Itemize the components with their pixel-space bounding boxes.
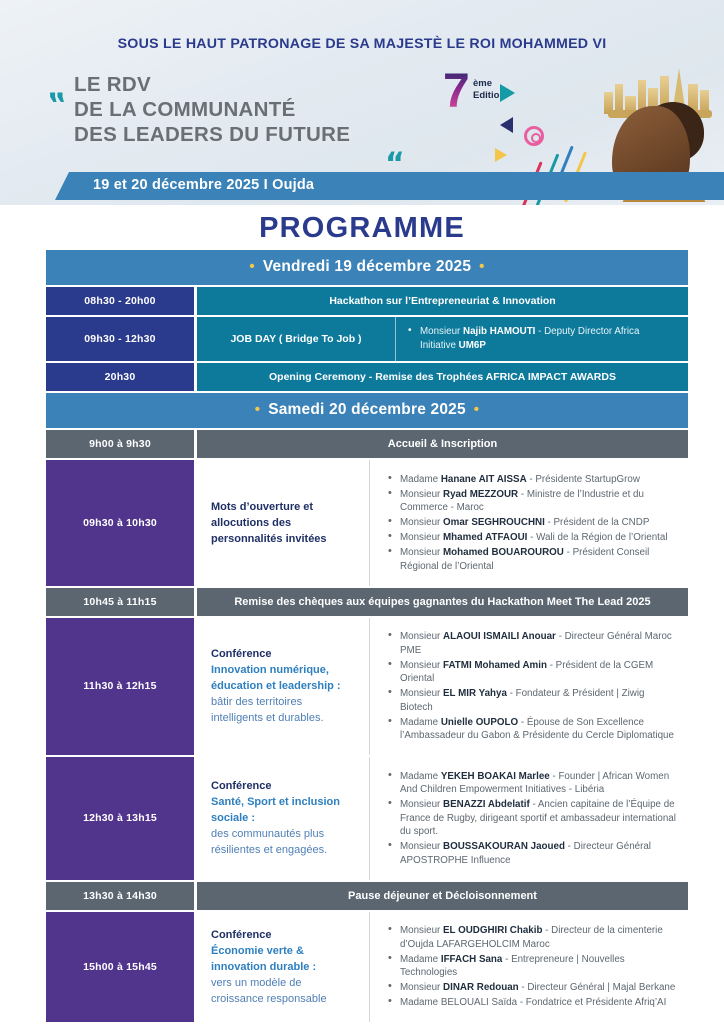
- row-time: 13h30 à 14h30: [46, 882, 194, 910]
- table-row: 09h30 à 10h30Mots d’ouverture et allocut…: [46, 460, 688, 586]
- topic-description: bâtir des territoires intelligents et du…: [211, 694, 357, 726]
- speaker-item: Madame IFFACH Sana - Entrepreneure | Nou…: [386, 953, 678, 980]
- speaker-item: Monsieur Mhamed ATFAOUI - Wali de la Rég…: [386, 531, 678, 545]
- row-time: 09h30 à 10h30: [46, 460, 194, 586]
- edition-number: 7: [443, 68, 470, 116]
- row-label: Pause déjeuner et Décloisonnement: [197, 882, 688, 910]
- speaker-item: Monsieur ALAOUI ISMAILI Anouar - Directe…: [386, 630, 678, 657]
- row-time: 15h00 à 15h45: [46, 912, 194, 1023]
- title-line-1: LE RDV: [74, 72, 350, 97]
- speaker-item: Monsieur BENAZZI Abdelatif - Ancien capi…: [386, 798, 678, 839]
- triangle-right-teal-icon: [500, 84, 515, 102]
- row-topic: ConférenceÉconomie verte & innovation du…: [197, 912, 369, 1023]
- row-time: 09h30 - 12h30: [46, 317, 194, 361]
- topic-heading: Conférence: [211, 646, 357, 662]
- row-label: Remise des chèques aux équipes gagnantes…: [197, 588, 688, 616]
- topic-subject: Économie verte & innovation durable :: [211, 943, 357, 975]
- table-row: 09h30 - 12h30JOB DAY ( Bridge To Job )Mo…: [46, 317, 688, 361]
- speaker-item: Monsieur Najib HAMOUTI - Deputy Director…: [408, 325, 678, 353]
- bullet-dot-icon: •: [471, 258, 492, 275]
- triangle-right-yellow-icon: [495, 148, 507, 162]
- table-row: 08h30 - 20h00Hackathon sur l’Entrepreneu…: [46, 287, 688, 315]
- day-header-saturday: •Samedi 20 décembre 2025•: [46, 393, 688, 428]
- speaker-item: Monsieur EL MIR Yahya - Fondateur & Prés…: [386, 687, 678, 714]
- speaker-item: Madame YEKEH BOAKAI Marlee - Founder | A…: [386, 770, 678, 797]
- bullet-dot-icon: •: [466, 401, 487, 418]
- bullet-dot-icon: •: [247, 401, 268, 418]
- row-speakers: Madame Hanane AIT AISSA - Présidente Sta…: [369, 460, 688, 586]
- speaker-item: Monsieur Omar SEGHROUCHNI - Président de…: [386, 516, 678, 530]
- speaker-item: Madame Unielle OUPOLO - Épouse de Son Ex…: [386, 716, 678, 743]
- row-time: 11h30 à 12h15: [46, 618, 194, 756]
- day-header-friday: •Vendredi 19 décembre 2025•: [46, 250, 688, 285]
- triangle-left-navy-icon: [500, 117, 513, 133]
- speaker-item: Monsieur DINAR Redouan - Directeur Génér…: [386, 981, 678, 995]
- page-title: PROGRAMME: [0, 212, 724, 245]
- topic-heading: Mots d’ouverture et allocutions des pers…: [211, 499, 357, 547]
- row-time: 9h00 à 9h30: [46, 430, 194, 458]
- row-speakers: Monsieur ALAOUI ISMAILI Anouar - Directe…: [369, 618, 688, 756]
- topic-subject: Innovation numérique, éducation et leade…: [211, 662, 357, 694]
- topic-subject: Santé, Sport et inclusion sociale :: [211, 794, 357, 826]
- row-time: 10h45 à 11h15: [46, 588, 194, 616]
- row-topic: ConférenceSanté, Sport et inclusion soci…: [197, 757, 369, 880]
- table-row: 12h30 à 13h15ConférenceSanté, Sport et i…: [46, 757, 688, 880]
- poster-page: SOUS LE HAUT PATRONAGE DE SA MAJESTÈ LE …: [0, 0, 724, 1024]
- table-row: 9h00 à 9h30Accueil & Inscription: [46, 430, 688, 458]
- date-location-ribbon: 19 et 20 décembre 2025 I Oujda: [55, 172, 724, 200]
- row-time: 20h30: [46, 363, 194, 391]
- speaker-item: Madame BELOUALI Saïda - Fondatrice et Pr…: [386, 996, 678, 1010]
- table-row: 20h30Opening Ceremony - Remise des Troph…: [46, 363, 688, 391]
- topic-description: des communautés plus résilientes et enga…: [211, 826, 357, 858]
- topic-heading: Conférence: [211, 778, 357, 794]
- table-row: 10h45 à 11h15Remise des chèques aux équi…: [46, 588, 688, 616]
- row-label: Hackathon sur l’Entrepreneuriat & Innova…: [197, 287, 688, 315]
- table-row: 13h30 à 14h30Pause déjeuner et Décloison…: [46, 882, 688, 910]
- title-line-3: DES LEADERS DU FUTURE: [74, 122, 350, 147]
- event-banner: SOUS LE HAUT PATRONAGE DE SA MAJESTÈ LE …: [0, 0, 724, 205]
- row-left-label: JOB DAY ( Bridge To Job ): [197, 317, 395, 361]
- event-title: LE RDV DE LA COMMUNANTÉ DES LEADERS DU F…: [74, 72, 350, 147]
- speaker-item: Monsieur Ryad MEZZOUR - Ministre de l’In…: [386, 488, 678, 515]
- date-location-text: 19 et 20 décembre 2025 I Oujda: [93, 177, 314, 193]
- bullet-dot-icon: •: [241, 258, 262, 275]
- quote-open-icon: “: [47, 74, 67, 104]
- programme-table: •Vendredi 19 décembre 2025•08h30 - 20h00…: [46, 250, 688, 1024]
- row-split: JOB DAY ( Bridge To Job )Monsieur Najib …: [197, 317, 688, 361]
- row-speakers: Monsieur Najib HAMOUTI - Deputy Director…: [395, 317, 688, 361]
- speaker-item: Monsieur FATMI Mohamed Amin - Président …: [386, 659, 678, 686]
- row-time: 08h30 - 20h00: [46, 287, 194, 315]
- speaker-item: Monsieur EL OUDGHIRI Chakib - Directeur …: [386, 924, 678, 951]
- table-row: 15h00 à 15h45ConférenceÉconomie verte & …: [46, 912, 688, 1023]
- table-row: 11h30 à 12h15ConférenceInnovation numéri…: [46, 618, 688, 756]
- speaker-item: Monsieur BOUSSAKOURAN Jaoued - Directeur…: [386, 840, 678, 867]
- patronage-line: SOUS LE HAUT PATRONAGE DE SA MAJESTÈ LE …: [0, 36, 724, 52]
- topic-description: vers un modèle de croissance responsable: [211, 975, 357, 1007]
- speaker-item: Madame Hanane AIT AISSA - Présidente Sta…: [386, 473, 678, 487]
- circle-ring-icon: [524, 126, 544, 146]
- quote-close-icon: ”: [385, 133, 405, 163]
- row-label: Accueil & Inscription: [197, 430, 688, 458]
- row-topic: Mots d’ouverture et allocutions des pers…: [197, 460, 369, 586]
- title-line-2: DE LA COMMUNANTÉ: [74, 97, 350, 122]
- row-speakers: Monsieur EL OUDGHIRI Chakib - Directeur …: [369, 912, 688, 1023]
- row-time: 12h30 à 13h15: [46, 757, 194, 880]
- row-label: Opening Ceremony - Remise des Trophées A…: [197, 363, 688, 391]
- row-speakers: Madame YEKEH BOAKAI Marlee - Founder | A…: [369, 757, 688, 880]
- topic-heading: Conférence: [211, 927, 357, 943]
- speaker-item: Monsieur Mohamed BOUAROUROU - Président …: [386, 546, 678, 573]
- row-topic: ConférenceInnovation numérique, éducatio…: [197, 618, 369, 756]
